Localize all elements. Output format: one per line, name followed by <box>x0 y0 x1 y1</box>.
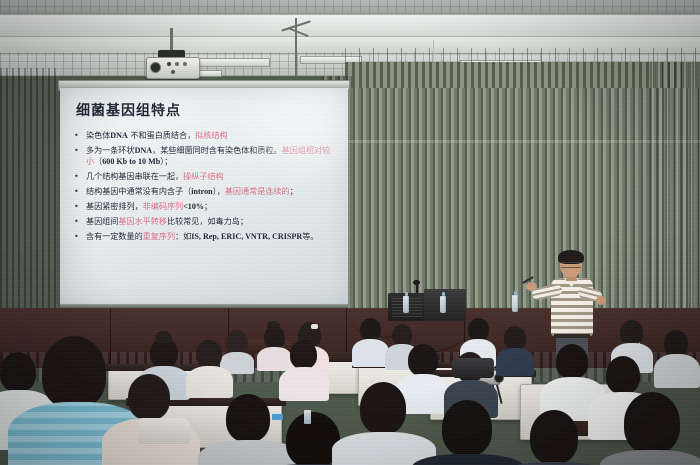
water-bottle <box>512 295 518 312</box>
curtain-light-band <box>345 140 700 143</box>
presenter-belt <box>554 334 590 338</box>
bullet-marker-icon: • <box>74 216 86 227</box>
presenter <box>540 252 610 356</box>
slide-bullet: •含有一定数量的重复序列：如IS, Rep, ERIC, VNTR, CRISP… <box>74 231 336 242</box>
presenter-left-hand <box>526 282 537 291</box>
slide-bullet: •基因组间基因水平转移比较常见，如毒力岛； <box>74 216 336 227</box>
white-bag-on-desk <box>138 418 190 444</box>
bullet-text: 含有一定数量的重复序列：如IS, Rep, ERIC, VNTR, CRISPR… <box>86 231 336 242</box>
bullet-text: 结构基因中通常没有内含子（intron），基因通常是连续的； <box>86 186 336 197</box>
slide-bullet: •结构基因中通常没有内含子（intron），基因通常是连续的； <box>74 186 336 197</box>
presenter-right-hand <box>596 296 606 305</box>
curtain-panel-main <box>345 88 700 320</box>
slide-bullet: •几个结构基因串联在一起，操纵子结构 <box>74 171 336 182</box>
bullet-text: 多为一条环状DNA，某些细菌同时含有染色体和质粒。基因组相对较小（600 Kb … <box>86 145 336 167</box>
slide-bullet: •基因紧密排列，非编码序列<10%； <box>74 201 336 212</box>
bullet-marker-icon: • <box>74 186 86 197</box>
eyeglasses-icon <box>561 262 581 268</box>
slide-title: 细菌基因组特点 <box>76 100 181 120</box>
bullet-marker-icon: • <box>74 171 86 182</box>
bullet-text: 染色体DNA 不和蛋白质结合，拟核结构 <box>86 130 336 141</box>
left-wall-curtain <box>0 68 60 320</box>
bullet-marker-icon: • <box>74 201 86 212</box>
slide-bullet-list: •染色体DNA 不和蛋白质结合，拟核结构•多为一条环状DNA，某些细菌同时含有染… <box>74 130 336 246</box>
bullet-marker-icon: • <box>74 231 86 242</box>
phone-on-desk <box>272 414 283 420</box>
curtain-valance <box>345 62 700 91</box>
bullet-marker-icon: • <box>74 145 86 167</box>
water-bottle <box>403 296 409 313</box>
bullet-text: 基因组间基因水平转移比较常见，如毒力岛； <box>86 216 336 227</box>
slide-bullet: •染色体DNA 不和蛋白质结合，拟核结构 <box>74 130 336 141</box>
projection-screen: 细菌基因组特点 •染色体DNA 不和蛋白质结合，拟核结构•多为一条环状DNA，某… <box>60 88 348 306</box>
right-wall <box>650 62 700 312</box>
slide-bullet: •多为一条环状DNA，某些细菌同时含有染色体和质粒。基因组相对较小（600 Kb… <box>74 145 336 167</box>
bullet-text: 基因紧密排列，非编码序列<10%； <box>86 201 336 212</box>
bullet-marker-icon: • <box>74 130 86 141</box>
water-bottle <box>440 296 446 313</box>
lecture-hall-photo: 细菌基因组特点 •染色体DNA 不和蛋白质结合，拟核结构•多为一条环状DNA，某… <box>0 0 700 465</box>
bullet-text: 几个结构基因串联在一起，操纵子结构 <box>86 171 336 182</box>
projector-lens-icon <box>150 62 161 73</box>
small-bottle-on-desk <box>304 410 311 424</box>
bag-on-desk <box>452 358 494 378</box>
